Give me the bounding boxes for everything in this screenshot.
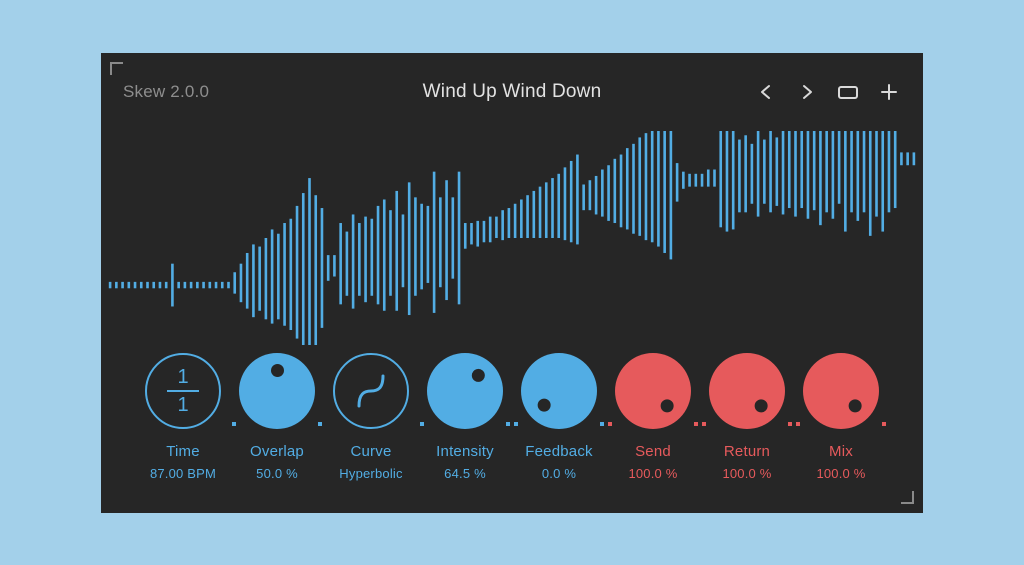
waveform-bar bbox=[290, 218, 293, 329]
knob-tick-max bbox=[318, 422, 322, 426]
knob-cell-send: Send100.0 % bbox=[606, 353, 700, 481]
knob-intensity[interactable] bbox=[427, 353, 503, 429]
waveform-bar bbox=[800, 131, 803, 208]
waveform-bar bbox=[414, 197, 417, 295]
waveform-bar bbox=[564, 167, 567, 240]
knob-send[interactable] bbox=[615, 353, 691, 429]
knob-cell-intensity: Intensity64.5 % bbox=[418, 353, 512, 481]
waveform-bar bbox=[202, 281, 205, 287]
knob-overlap[interactable] bbox=[239, 353, 315, 429]
knob-curve[interactable] bbox=[333, 353, 409, 429]
waveform-bar bbox=[296, 205, 299, 338]
time-denominator: 1 bbox=[177, 395, 188, 415]
waveform-bar bbox=[140, 281, 143, 287]
waveform-bar bbox=[240, 263, 243, 302]
chevron-left-icon bbox=[758, 83, 774, 101]
knob-tick-min bbox=[232, 422, 236, 426]
waveform-bar bbox=[900, 152, 903, 165]
waveform-bar bbox=[688, 173, 691, 186]
waveform-bar bbox=[663, 131, 666, 253]
waveform-bar bbox=[744, 135, 747, 212]
waveform-bar bbox=[321, 208, 324, 328]
waveform-bar bbox=[508, 208, 511, 238]
knob-glyph-curve bbox=[333, 353, 409, 429]
waveform-bar bbox=[614, 158, 617, 222]
waveform-bar bbox=[470, 223, 473, 244]
waveform-bar bbox=[539, 186, 542, 237]
waveform-bar bbox=[782, 131, 785, 214]
knob-mix[interactable] bbox=[803, 353, 879, 429]
knob-label-return: Return bbox=[724, 443, 770, 460]
waveform-bar bbox=[645, 133, 648, 240]
waveform-bar bbox=[152, 281, 155, 287]
waveform-bar bbox=[570, 160, 573, 241]
waveform-bar bbox=[427, 205, 430, 282]
waveform-bar bbox=[533, 190, 536, 237]
waveform-bar bbox=[333, 255, 336, 276]
knob-time[interactable]: 11 bbox=[145, 353, 221, 429]
next-preset-button[interactable] bbox=[795, 80, 819, 104]
waveform-bar bbox=[128, 281, 131, 287]
waveform-bar bbox=[146, 281, 149, 287]
knob-cell-mix: Mix100.0 % bbox=[794, 353, 888, 481]
waveform-bar bbox=[881, 131, 884, 232]
knob-tick-max bbox=[882, 422, 886, 426]
knob-cell-return: Return100.0 % bbox=[700, 353, 794, 481]
waveform-bar bbox=[346, 231, 349, 295]
fraction-bar bbox=[167, 390, 199, 392]
knob-value-overlap[interactable]: 50.0 % bbox=[256, 466, 298, 481]
waveform-bar bbox=[420, 203, 423, 289]
waveform-bar bbox=[489, 216, 492, 242]
knob-value-return[interactable]: 100.0 % bbox=[722, 466, 771, 481]
waveform-bar bbox=[844, 131, 847, 232]
waveform-bar bbox=[788, 131, 791, 208]
waveform-bar bbox=[651, 131, 654, 242]
knob-indicator-dot bbox=[505, 337, 612, 444]
waveform-bar bbox=[352, 214, 355, 308]
knob-glyph-fraction: 11 bbox=[145, 353, 221, 429]
waveform-bar bbox=[358, 223, 361, 296]
plugin-brand-name: Skew 2.0.0 bbox=[123, 82, 209, 102]
prev-preset-button[interactable] bbox=[754, 80, 778, 104]
waveform-bar bbox=[738, 139, 741, 212]
waveform-bar bbox=[221, 281, 224, 287]
waveform-bar bbox=[819, 131, 822, 225]
waveform-bar bbox=[670, 131, 673, 259]
waveform-bar bbox=[557, 173, 560, 237]
waveform-bar bbox=[695, 173, 698, 186]
waveform-bar bbox=[327, 255, 330, 281]
waveform-bar bbox=[913, 152, 916, 165]
knob-indicator-dot bbox=[693, 337, 800, 444]
knob-return[interactable] bbox=[709, 353, 785, 429]
waveform-bar bbox=[582, 184, 585, 210]
waveform-bar bbox=[751, 143, 754, 203]
waveform-bar bbox=[464, 223, 467, 249]
waveform-bar bbox=[726, 131, 729, 232]
knob-value-mix[interactable]: 100.0 % bbox=[816, 466, 865, 481]
knob-tick-max bbox=[600, 422, 604, 426]
waveform-bar bbox=[246, 252, 249, 308]
waveform-bar bbox=[302, 193, 305, 345]
s-curve-icon bbox=[351, 369, 391, 413]
waveform-bar bbox=[339, 223, 342, 304]
waveform-bar bbox=[551, 178, 554, 238]
waveform-bar bbox=[458, 171, 461, 304]
resize-corner-bottom-right[interactable] bbox=[901, 491, 914, 504]
plugin-window: Skew 2.0.0 Wind Up Wind Down bbox=[101, 53, 923, 513]
waveform-bar bbox=[526, 195, 529, 238]
knob-feedback[interactable] bbox=[521, 353, 597, 429]
knob-tick-min bbox=[514, 422, 518, 426]
waveform-bar bbox=[763, 139, 766, 203]
waveform-bar bbox=[389, 210, 392, 296]
add-preset-button[interactable] bbox=[877, 80, 901, 104]
knob-label-send: Send bbox=[635, 443, 671, 460]
waveform-bar bbox=[277, 233, 280, 319]
knob-tick-min bbox=[420, 422, 424, 426]
preset-browser-button[interactable] bbox=[836, 80, 860, 104]
knob-label-curve: Curve bbox=[350, 443, 391, 460]
knob-label-intensity: Intensity bbox=[436, 443, 494, 460]
knob-tick-max bbox=[694, 422, 698, 426]
waveform-bar bbox=[364, 216, 367, 302]
knob-value-send[interactable]: 100.0 % bbox=[628, 466, 677, 481]
knob-tick-max bbox=[506, 422, 510, 426]
waveform-bar bbox=[215, 281, 218, 287]
knob-indicator-dot bbox=[787, 337, 894, 444]
waveform-bar bbox=[190, 281, 193, 287]
waveform-bar bbox=[713, 169, 716, 186]
knob-value-intensity[interactable]: 64.5 % bbox=[444, 466, 486, 481]
waveform-bar bbox=[233, 272, 236, 293]
waveform-bar bbox=[732, 131, 735, 229]
waveform-bar bbox=[196, 281, 199, 287]
waveform-bar bbox=[402, 214, 405, 287]
waveform-bar bbox=[252, 244, 255, 317]
knob-label-mix: Mix bbox=[829, 443, 853, 460]
knob-label-feedback: Feedback bbox=[525, 443, 592, 460]
waveform-bar bbox=[495, 216, 498, 237]
waveform-bar bbox=[607, 165, 610, 221]
knob-value-time[interactable]: 87.00 BPM bbox=[150, 466, 216, 481]
waveform-bar bbox=[794, 131, 797, 217]
waveform-bar bbox=[719, 131, 722, 227]
waveform-bar bbox=[707, 169, 710, 186]
waveform-bar bbox=[483, 220, 486, 241]
waveform-bar bbox=[875, 131, 878, 217]
waveform-bar bbox=[894, 131, 897, 208]
waveform-bar bbox=[620, 154, 623, 227]
waveform-bar bbox=[115, 281, 118, 287]
rectangle-icon bbox=[837, 83, 859, 101]
waveform-bar bbox=[601, 169, 604, 216]
time-numerator: 1 bbox=[177, 367, 188, 387]
waveform-bar bbox=[576, 154, 579, 244]
waveform-bar bbox=[813, 131, 816, 210]
waveform-bar bbox=[184, 281, 187, 287]
knob-value-curve[interactable]: Hyperbolic bbox=[339, 466, 402, 481]
knob-row: 11Time87.00 BPMOverlap50.0 %CurveHyperbo… bbox=[101, 345, 923, 513]
knob-indicator-dot bbox=[599, 337, 706, 444]
waveform-bar bbox=[757, 131, 760, 217]
header-actions bbox=[754, 80, 901, 104]
waveform-bar bbox=[514, 203, 517, 237]
waveform-bar bbox=[314, 195, 317, 345]
waveform-bar bbox=[906, 152, 909, 165]
waveform-bar bbox=[439, 197, 442, 287]
knob-cell-curve: CurveHyperbolic bbox=[324, 353, 418, 481]
waveform-bar bbox=[308, 178, 311, 345]
waveform-bar bbox=[271, 229, 274, 323]
waveform-bar bbox=[595, 175, 598, 214]
waveform-bar bbox=[869, 131, 872, 236]
knob-indicator-dot bbox=[412, 337, 519, 444]
waveform-bar bbox=[408, 182, 411, 315]
waveform-bar bbox=[209, 281, 212, 287]
waveform-bar bbox=[258, 246, 261, 310]
knob-tick-min bbox=[796, 422, 800, 426]
waveform-bar bbox=[838, 131, 841, 204]
waveform-bar bbox=[769, 131, 772, 212]
waveform-bar bbox=[589, 180, 592, 210]
waveform-bar bbox=[159, 281, 162, 287]
waveform-bar bbox=[227, 281, 230, 287]
waveform-bar bbox=[371, 218, 374, 295]
waveform-bar bbox=[134, 281, 137, 287]
knob-tick-max bbox=[788, 422, 792, 426]
waveform-bar bbox=[850, 131, 853, 212]
waveform-bar bbox=[121, 281, 124, 287]
waveform-bar bbox=[545, 182, 548, 238]
waveform-bar bbox=[701, 173, 704, 186]
waveform-bar bbox=[638, 137, 641, 235]
waveform-bar bbox=[857, 131, 860, 221]
knob-tick-min bbox=[702, 422, 706, 426]
waveform-bar bbox=[863, 131, 866, 212]
waveform-bar bbox=[520, 199, 523, 238]
waveform-canvas bbox=[107, 131, 917, 345]
waveform-bar bbox=[383, 199, 386, 310]
waveform-bar bbox=[283, 223, 286, 326]
waveform-bar bbox=[476, 220, 479, 246]
waveform-bar bbox=[265, 238, 268, 319]
waveform-bar bbox=[807, 131, 810, 219]
waveform-bar bbox=[626, 148, 629, 229]
waveform-display[interactable] bbox=[101, 131, 923, 345]
knob-label-time: Time bbox=[166, 443, 200, 460]
waveform-bar bbox=[433, 171, 436, 312]
header-bar: Skew 2.0.0 Wind Up Wind Down bbox=[101, 53, 923, 131]
knob-value-feedback[interactable]: 0.0 % bbox=[542, 466, 576, 481]
waveform-bar bbox=[776, 137, 779, 205]
knob-cell-time: 11Time87.00 BPM bbox=[136, 353, 230, 481]
waveform-bar bbox=[888, 131, 891, 212]
waveform-bar bbox=[377, 205, 380, 303]
waveform-bar bbox=[452, 197, 455, 278]
waveform-bar bbox=[445, 180, 448, 300]
knob-cell-overlap: Overlap50.0 % bbox=[230, 353, 324, 481]
waveform-bar bbox=[395, 190, 398, 310]
chevron-right-icon bbox=[799, 83, 815, 101]
knob-cell-feedback: Feedback0.0 % bbox=[512, 353, 606, 481]
waveform-bar bbox=[657, 131, 660, 247]
knob-tick-min bbox=[608, 422, 612, 426]
waveform-bar bbox=[171, 263, 174, 306]
waveform-bar bbox=[501, 210, 504, 240]
waveform-bar bbox=[825, 131, 828, 212]
waveform-bar bbox=[682, 171, 685, 188]
waveform-bar bbox=[676, 163, 679, 202]
waveform-bar bbox=[177, 281, 180, 287]
waveform-bar bbox=[165, 281, 168, 287]
plus-icon bbox=[880, 83, 898, 101]
waveform-bar bbox=[832, 131, 835, 219]
knob-label-overlap: Overlap bbox=[250, 443, 304, 460]
waveform-bar bbox=[109, 281, 112, 287]
waveform-bar bbox=[632, 143, 635, 233]
knob-indicator-dot bbox=[239, 353, 315, 429]
